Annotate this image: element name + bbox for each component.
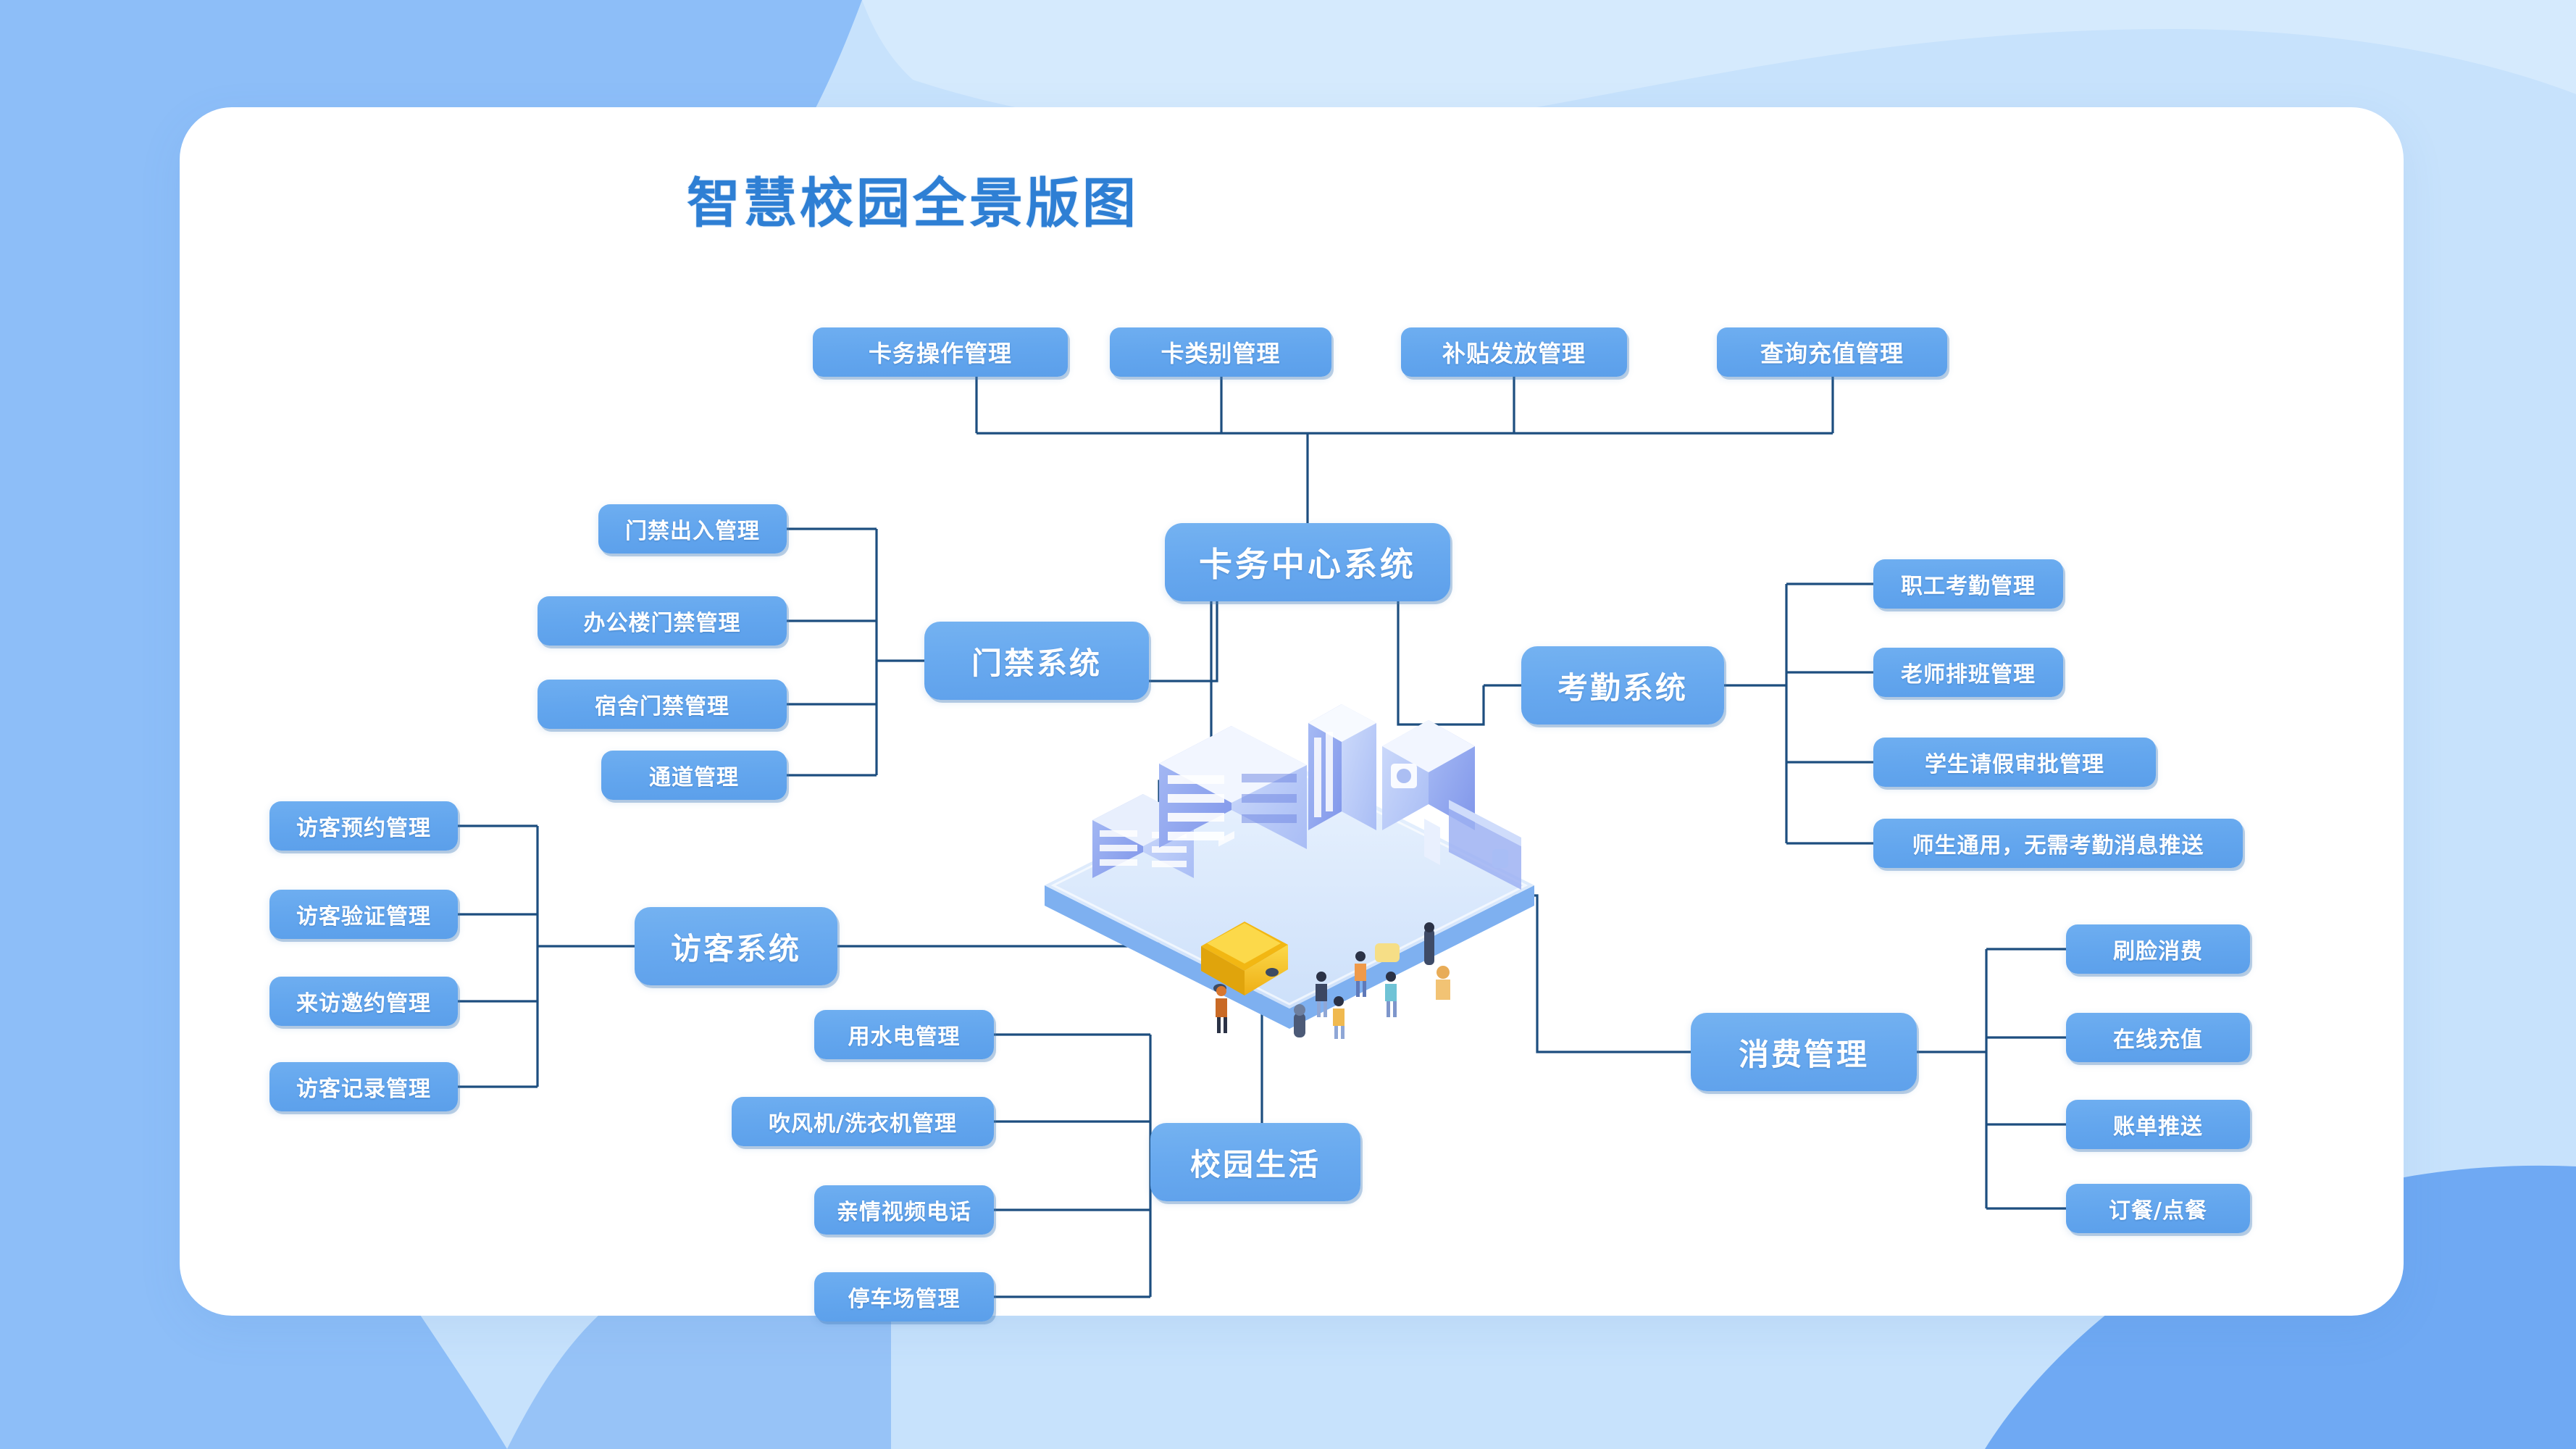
node-label: 卡类别管理 xyxy=(1161,335,1280,369)
node-teacher-schedule-management[interactable]: 老师排班管理 xyxy=(1873,648,2063,697)
node-card-category-management[interactable]: 卡类别管理 xyxy=(1110,327,1331,377)
node-card-center-system[interactable]: 卡务中心系统 xyxy=(1165,523,1450,601)
node-label: 卡务中心系统 xyxy=(1199,538,1416,586)
node-label: 账单推送 xyxy=(2113,1108,2203,1140)
node-visit-invitation-management[interactable]: 来访邀约管理 xyxy=(269,977,458,1026)
node-visitor-appointment-management[interactable]: 访客预约管理 xyxy=(269,801,458,851)
node-access-entry-exit-management[interactable]: 门禁出入管理 xyxy=(598,504,787,554)
node-hairdryer-washer-management[interactable]: 吹风机/洗衣机管理 xyxy=(732,1097,994,1146)
node-label: 在线充值 xyxy=(2113,1022,2203,1053)
node-visitor-record-management[interactable]: 访客记录管理 xyxy=(269,1062,458,1111)
node-label: 亲情视频电话 xyxy=(837,1194,971,1226)
node-staff-attendance-management[interactable]: 职工考勤管理 xyxy=(1873,559,2063,609)
node-dormitory-access-management[interactable]: 宿舍门禁管理 xyxy=(538,680,787,729)
node-label: 师生通用，无需考勤消息推送 xyxy=(1912,827,2204,859)
node-label: 宿舍门禁管理 xyxy=(595,688,729,720)
node-visitor-verification-management[interactable]: 访客验证管理 xyxy=(269,890,458,939)
node-query-recharge-management[interactable]: 查询充值管理 xyxy=(1717,327,1947,377)
node-label: 校园生活 xyxy=(1190,1140,1321,1185)
node-online-recharge[interactable]: 在线充值 xyxy=(2066,1013,2250,1062)
node-card-operation-management[interactable]: 卡务操作管理 xyxy=(813,327,1068,377)
node-label: 吹风机/洗衣机管理 xyxy=(769,1106,957,1137)
node-label: 查询充值管理 xyxy=(1760,335,1904,369)
node-label: 考勤系统 xyxy=(1557,664,1688,708)
node-attendance-message-push[interactable]: 师生通用，无需考勤消息推送 xyxy=(1873,819,2243,868)
node-label: 访客预约管理 xyxy=(296,810,431,842)
node-label: 办公楼门禁管理 xyxy=(584,605,741,637)
node-campus-life[interactable]: 校园生活 xyxy=(1150,1123,1360,1201)
node-label: 访客验证管理 xyxy=(296,898,431,930)
node-office-building-access-management[interactable]: 办公楼门禁管理 xyxy=(538,596,787,646)
node-bill-push[interactable]: 账单推送 xyxy=(2066,1100,2250,1149)
node-label: 老师排班管理 xyxy=(1901,656,2036,688)
node-consumption-management[interactable]: 消费管理 xyxy=(1691,1013,1917,1091)
node-label: 门禁出入管理 xyxy=(625,513,760,545)
node-passage-management[interactable]: 通道管理 xyxy=(601,751,787,800)
node-student-leave-approval-management[interactable]: 学生请假审批管理 xyxy=(1873,738,2156,787)
node-visitor-system[interactable]: 访客系统 xyxy=(635,907,837,985)
node-label: 用水电管理 xyxy=(848,1019,961,1051)
node-label: 门禁系统 xyxy=(971,639,1102,683)
node-attendance-system[interactable]: 考勤系统 xyxy=(1521,646,1724,724)
node-label: 来访邀约管理 xyxy=(296,985,431,1017)
node-label: 通道管理 xyxy=(649,759,739,791)
node-meal-ordering[interactable]: 订餐/点餐 xyxy=(2066,1184,2250,1233)
node-label: 消费管理 xyxy=(1739,1030,1869,1074)
node-label: 停车场管理 xyxy=(848,1281,961,1313)
node-label: 补贴发放管理 xyxy=(1442,335,1586,369)
node-label: 访客系统 xyxy=(671,924,801,969)
page-title: 智慧校园全景版图 xyxy=(687,177,1139,230)
node-label: 学生请假审批管理 xyxy=(1925,746,2104,778)
isometric-smart-campus-illustration xyxy=(1014,688,1565,1043)
node-parking-lot-management[interactable]: 停车场管理 xyxy=(814,1272,994,1321)
node-label: 访客记录管理 xyxy=(296,1071,431,1103)
node-family-video-call[interactable]: 亲情视频电话 xyxy=(814,1185,994,1235)
node-label: 订餐/点餐 xyxy=(2109,1193,2207,1224)
node-face-recognition-payment[interactable]: 刷脸消费 xyxy=(2066,924,2250,974)
node-label: 刷脸消费 xyxy=(2113,933,2203,965)
node-subsidy-distribution-management[interactable]: 补贴发放管理 xyxy=(1401,327,1627,377)
node-label: 职工考勤管理 xyxy=(1901,568,2036,600)
node-access-control-system[interactable]: 门禁系统 xyxy=(924,622,1149,700)
node-water-electricity-management[interactable]: 用水电管理 xyxy=(814,1010,994,1059)
node-label: 卡务操作管理 xyxy=(869,335,1012,369)
